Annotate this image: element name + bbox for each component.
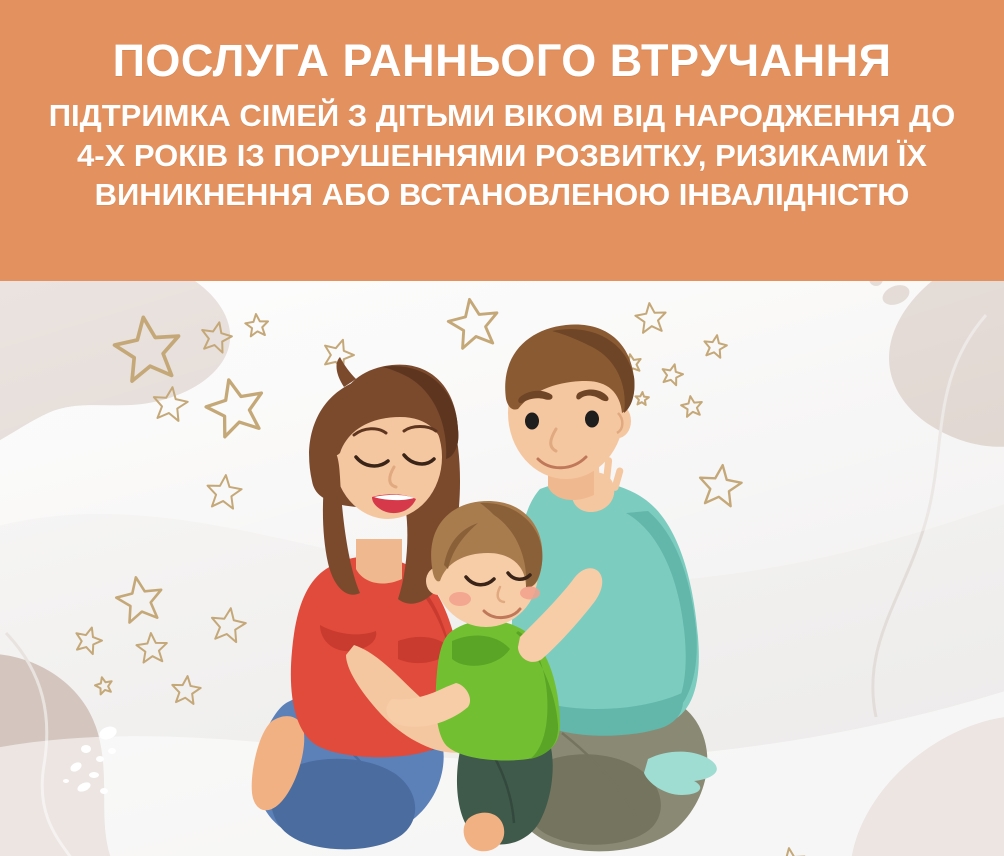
child-blush-right [520, 587, 540, 600]
child-blush-left [449, 592, 471, 606]
poster-root: ПОСЛУГА РАННЬОГО ВТРУЧАННЯ ПІДТРИМКА СІМ… [0, 0, 1004, 856]
child-foot [464, 813, 505, 852]
father-eye-right [585, 411, 599, 428]
page-title: ПОСЛУГА РАННЬОГО ВТРУЧАННЯ [113, 38, 892, 83]
subtitle-line-3: ВИНИКНЕННЯ АБО ВСТАНОВЛЕНОЮ ІНВАЛІДНІСТЮ [95, 175, 910, 215]
father-eye-left [525, 413, 539, 430]
family-hug-illustration [0, 281, 1004, 856]
subtitle-line-1: ПІДТРИМКА СІМЕЙ З ДІТЬМИ ВІКОМ ВІД НАРОД… [49, 96, 955, 136]
header-banner: ПОСЛУГА РАННЬОГО ВТРУЧАННЯ ПІДТРИМКА СІМ… [0, 0, 1004, 281]
subtitle-line-2: 4-Х РОКІВ ІЗ ПОРУШЕННЯМИ РОЗВИТКУ, РИЗИК… [77, 136, 927, 176]
mother-neck [356, 539, 402, 584]
illustration-svg [0, 281, 1004, 856]
